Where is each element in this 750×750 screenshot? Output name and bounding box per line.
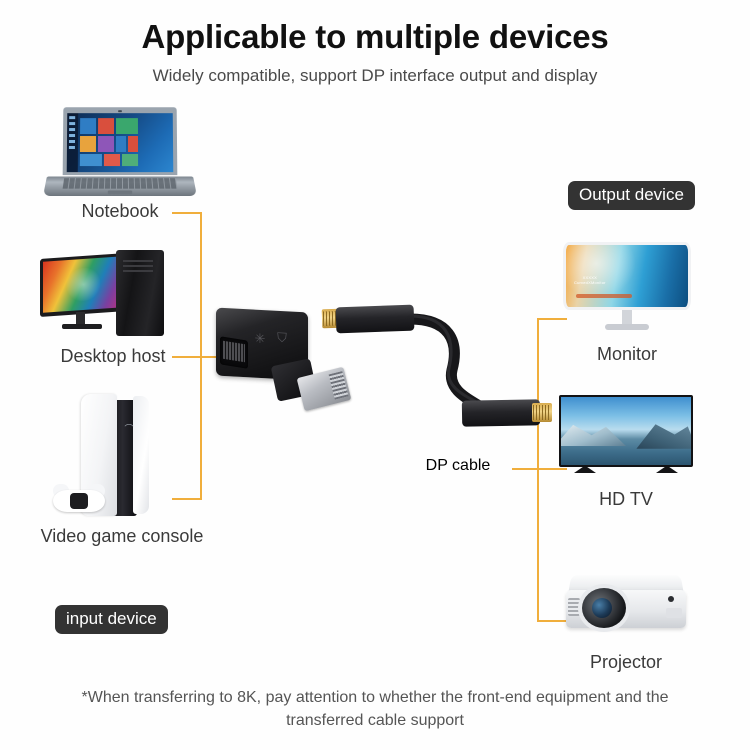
input-device-game-console: ⌒ Video game console (22, 392, 222, 547)
page-subtitle: Widely compatible, support DP interface … (0, 66, 750, 86)
page-title: Applicable to multiple devices (0, 18, 750, 56)
output-device-hd-tv: HD TV (556, 393, 696, 510)
input-device-desktop-host: Desktop host (28, 250, 198, 367)
output-device-projector: Projector (556, 562, 696, 673)
television-icon (556, 393, 696, 485)
output-device-monitor: XXXXXCurvedXMonitor Monitor (557, 240, 697, 365)
dp-cable-label: DP cable (378, 457, 538, 475)
device-label: Monitor (557, 344, 697, 365)
curved-monitor-icon: XXXXXCurvedXMonitor (557, 240, 697, 340)
device-label: Notebook (35, 201, 205, 222)
footnote-text: *When transferring to 8K, pay attention … (45, 686, 705, 732)
desktop-computer-icon (38, 250, 188, 342)
projector-icon (556, 562, 696, 648)
input-device-badge: input device (55, 605, 168, 634)
device-label: Video game console (22, 526, 222, 547)
output-device-badge: Output device (568, 181, 695, 210)
dp-cable-icon (336, 300, 526, 450)
laptop-icon (45, 105, 195, 197)
input-device-notebook: Notebook (35, 105, 205, 222)
device-label: Projector (556, 652, 696, 673)
device-label: HD TV (556, 489, 696, 510)
infographic-page: Applicable to multiple devices Widely co… (0, 0, 750, 750)
device-label: Desktop host (28, 346, 198, 367)
game-console-icon: ⌒ (45, 392, 200, 522)
